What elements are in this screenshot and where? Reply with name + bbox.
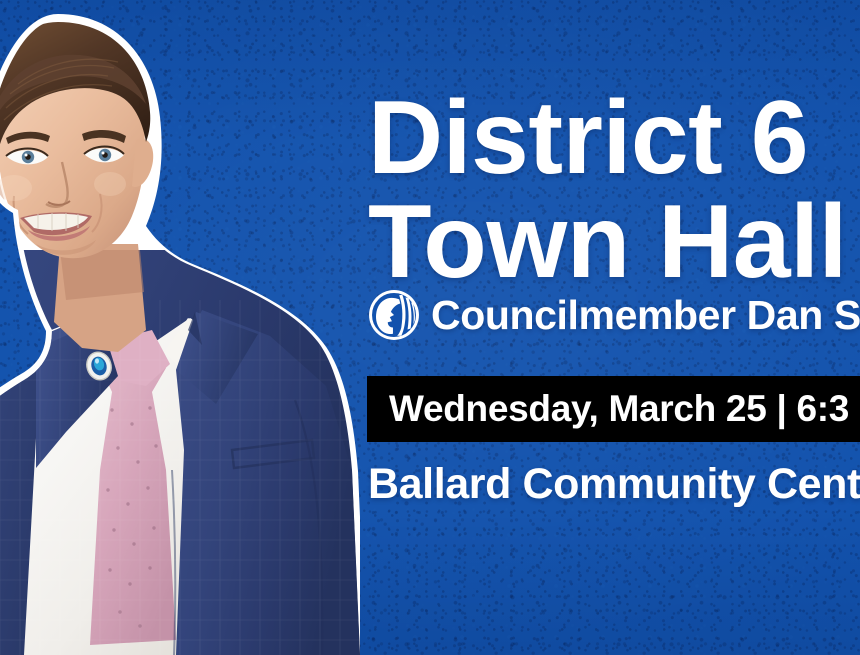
date-time-banner: Wednesday, March 25 | 6:3 [367, 376, 860, 442]
seattle-city-seal-icon [368, 289, 420, 341]
councilmember-name-text: Councilmember Dan St [431, 292, 860, 338]
headline-line-district: District 6 [368, 86, 808, 190]
venue-text: Ballard Community Cente [368, 459, 860, 509]
town-hall-poster: District 6 Town Hall w Councilmember Dan… [0, 0, 860, 655]
cheek-highlight-right [94, 172, 126, 196]
date-time-text: Wednesday, March 25 | 6:3 [389, 389, 849, 429]
councilmember-portrait [0, 0, 360, 655]
councilmember-row: Councilmember Dan St [368, 289, 860, 341]
headline-line-town-hall: Town Hall w [368, 190, 860, 294]
